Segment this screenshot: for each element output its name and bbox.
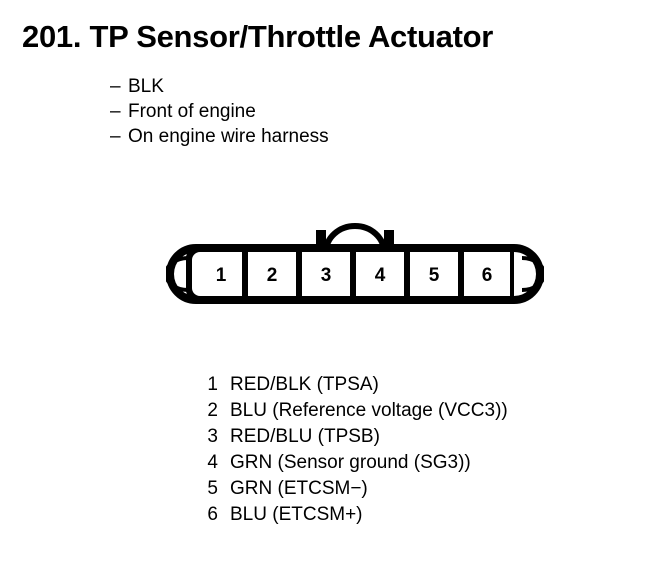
note-label: BLK bbox=[128, 74, 164, 99]
pin-legend-row: 5 GRN (ETCSM−) bbox=[196, 476, 508, 502]
pin-legend-row: 3 RED/BLU (TPSB) bbox=[196, 424, 508, 450]
pin-label: GRN (Sensor ground (SG3)) bbox=[230, 450, 471, 476]
pin-label: RED/BLK (TPSA) bbox=[230, 372, 379, 398]
pin-label: GRN (ETCSM−) bbox=[230, 476, 368, 502]
dash-marker: – bbox=[110, 99, 128, 124]
pin-label: BLU (ETCSM+) bbox=[230, 502, 363, 528]
pin-legend-row: 2 BLU (Reference voltage (VCC3)) bbox=[196, 398, 508, 424]
note-label: Front of engine bbox=[128, 99, 256, 124]
notes-list: – BLK – Front of engine – On engine wire… bbox=[110, 74, 329, 149]
pin-legend-row: 6 BLU (ETCSM+) bbox=[196, 502, 508, 528]
dash-marker: – bbox=[110, 74, 128, 99]
cavity-row: 1 2 3 4 5 6 bbox=[186, 248, 514, 300]
cavity-number-3: 3 bbox=[321, 265, 332, 286]
note-item: – Front of engine bbox=[110, 99, 329, 124]
pin-legend-row: 1 RED/BLK (TPSA) bbox=[196, 372, 508, 398]
pin-number: 5 bbox=[196, 476, 218, 502]
pin-label: BLU (Reference voltage (VCC3)) bbox=[230, 398, 508, 424]
cavity-number-6: 6 bbox=[482, 265, 493, 286]
pin-number: 4 bbox=[196, 450, 218, 476]
note-item: – BLK bbox=[110, 74, 329, 99]
pin-number: 3 bbox=[196, 424, 218, 450]
pin-legend-row: 4 GRN (Sensor ground (SG3)) bbox=[196, 450, 508, 476]
note-item: – On engine wire harness bbox=[110, 124, 329, 149]
pin-label: RED/BLU (TPSB) bbox=[230, 424, 380, 450]
dash-marker: – bbox=[110, 124, 128, 149]
note-label: On engine wire harness bbox=[128, 124, 329, 149]
cavity-number-5: 5 bbox=[429, 265, 440, 286]
cavity-number-2: 2 bbox=[267, 265, 278, 286]
pin-number: 1 bbox=[196, 372, 218, 398]
pin-legend: 1 RED/BLK (TPSA) 2 BLU (Reference voltag… bbox=[196, 372, 508, 528]
page-title: 201. TP Sensor/Throttle Actuator bbox=[22, 20, 493, 54]
connector-diagram: 1 2 3 4 5 6 bbox=[166, 222, 544, 304]
cavity-number-4: 4 bbox=[375, 265, 386, 286]
pin-number: 6 bbox=[196, 502, 218, 528]
cavity-number-1: 1 bbox=[216, 265, 227, 286]
pin-number: 2 bbox=[196, 398, 218, 424]
